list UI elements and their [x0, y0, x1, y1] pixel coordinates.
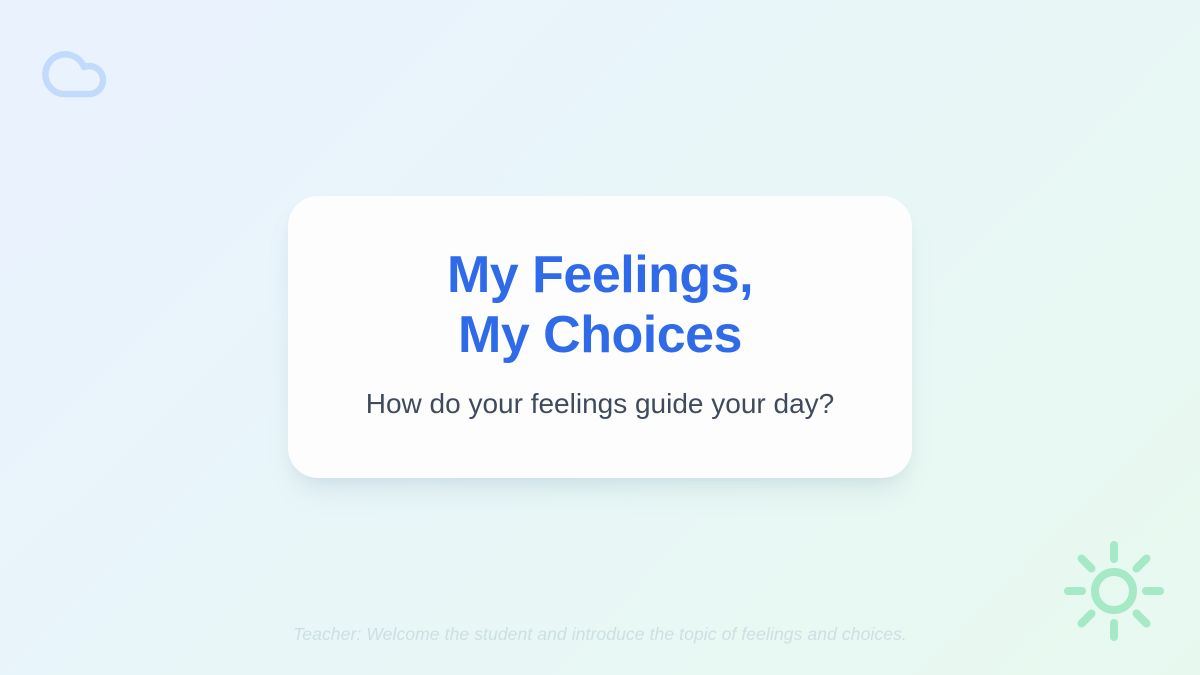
page-subtitle: How do your feelings guide your day?: [366, 387, 835, 421]
slide-canvas: My Feelings, My Choices How do your feel…: [0, 0, 1200, 675]
title-card: My Feelings, My Choices How do your feel…: [288, 196, 912, 478]
teacher-note: Teacher: Welcome the student and introdu…: [0, 622, 1200, 646]
cloud-icon: [32, 42, 116, 102]
page-title: My Feelings, My Choices: [447, 245, 753, 365]
